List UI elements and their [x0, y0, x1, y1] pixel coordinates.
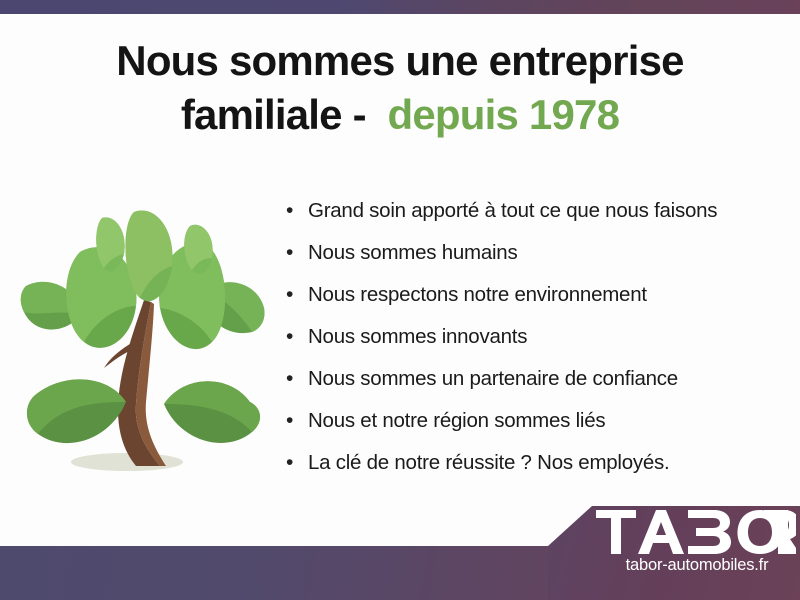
- list-item: • Nous sommes innovants: [286, 316, 766, 358]
- list-item-label: Grand soin apporté à tout ce que nous fa…: [308, 190, 717, 232]
- list-item-label: Nous sommes un partenaire de confiance: [308, 358, 678, 400]
- headline-line-2-black: familiale -: [181, 91, 366, 138]
- headline-line-2: familiale - depuis 1978: [40, 88, 760, 142]
- list-item: • Nous sommes humains: [286, 232, 766, 274]
- bullet-marker-icon: •: [286, 190, 304, 232]
- list-item: • Nous respectons notre environnement: [286, 274, 766, 316]
- page-title: Nous sommes une entreprise familiale - d…: [40, 34, 760, 142]
- list-item-label: Nous respectons notre environnement: [308, 274, 647, 316]
- tree-shadow: [71, 453, 183, 471]
- list-item: • Nous sommes un partenaire de confiance: [286, 358, 766, 400]
- bullet-marker-icon: •: [286, 232, 304, 274]
- list-item-label: Nous sommes humains: [308, 232, 517, 274]
- headline-line-1: Nous sommes une entreprise: [40, 34, 760, 88]
- brand-logo-panel: tabor-automobiles.fr: [548, 506, 800, 600]
- list-item-label: La clé de notre réussite ? Nos employés.: [308, 442, 669, 484]
- list-item: • Grand soin apporté à tout ce que nous …: [286, 190, 766, 232]
- bullet-marker-icon: •: [286, 442, 304, 484]
- tabor-wordmark-icon: [596, 510, 796, 554]
- list-item: • La clé de notre réussite ? Nos employé…: [286, 442, 766, 484]
- brand-logo-inner: tabor-automobiles.fr: [548, 506, 800, 600]
- bullet-marker-icon: •: [286, 316, 304, 358]
- slide-canvas: Nous sommes une entreprise familiale - d…: [0, 0, 800, 600]
- top-accent-bar: [0, 0, 800, 14]
- bullet-marker-icon: •: [286, 400, 304, 442]
- benefits-list: • Grand soin apporté à tout ce que nous …: [286, 190, 766, 484]
- tree-illustration: [14, 196, 276, 488]
- list-item-label: Nous sommes innovants: [308, 316, 527, 358]
- leaf-lower-left: [27, 379, 126, 443]
- list-item: • Nous et notre région sommes liés: [286, 400, 766, 442]
- list-item-label: Nous et notre région sommes liés: [308, 400, 605, 442]
- brand-tagline: tabor-automobiles.fr: [598, 556, 796, 575]
- leaf-lower-right: [164, 381, 260, 443]
- bullet-marker-icon: •: [286, 358, 304, 400]
- headline-line-2-accent: depuis 1978: [388, 91, 620, 138]
- bullet-marker-icon: •: [286, 274, 304, 316]
